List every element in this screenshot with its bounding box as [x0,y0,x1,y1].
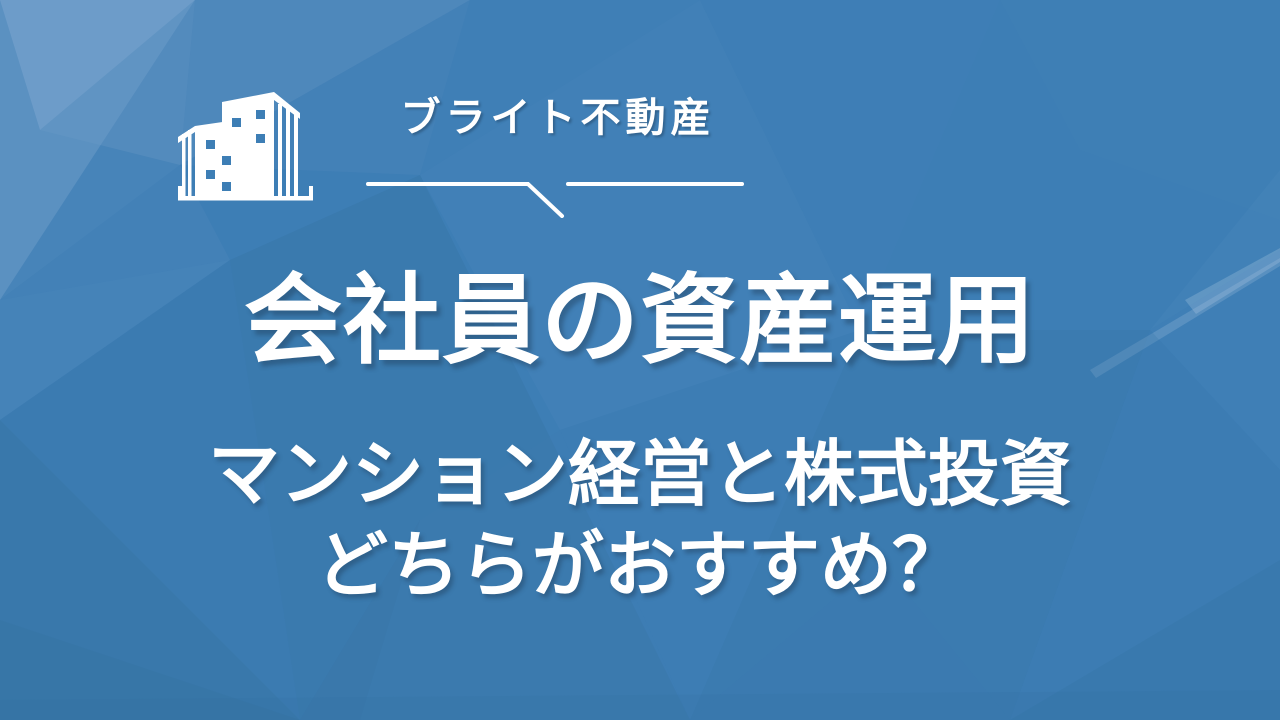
brand-name: ブライト不動産 [358,98,758,138]
main-title: 会社員の資産運用 [0,266,1280,376]
subtitle-line-1: マンション経営と株式投資 [0,430,1280,521]
brand-wrap: ブライト不動産 [358,78,758,218]
brand-divider [350,174,760,218]
slide-canvas: ブライト不動産 会社員の資産運用 マンション経営と株式投資 どちらがおすすめ？ [0,0,1280,720]
headline-block: 会社員の資産運用 [0,266,1280,376]
logo-block: ブライト不動産 [178,78,758,223]
building-icon [178,82,313,217]
subtitle-line-2: どちらがおすすめ？ [0,521,1280,612]
subtitle-block: マンション経営と株式投資 どちらがおすすめ？ [0,430,1280,613]
